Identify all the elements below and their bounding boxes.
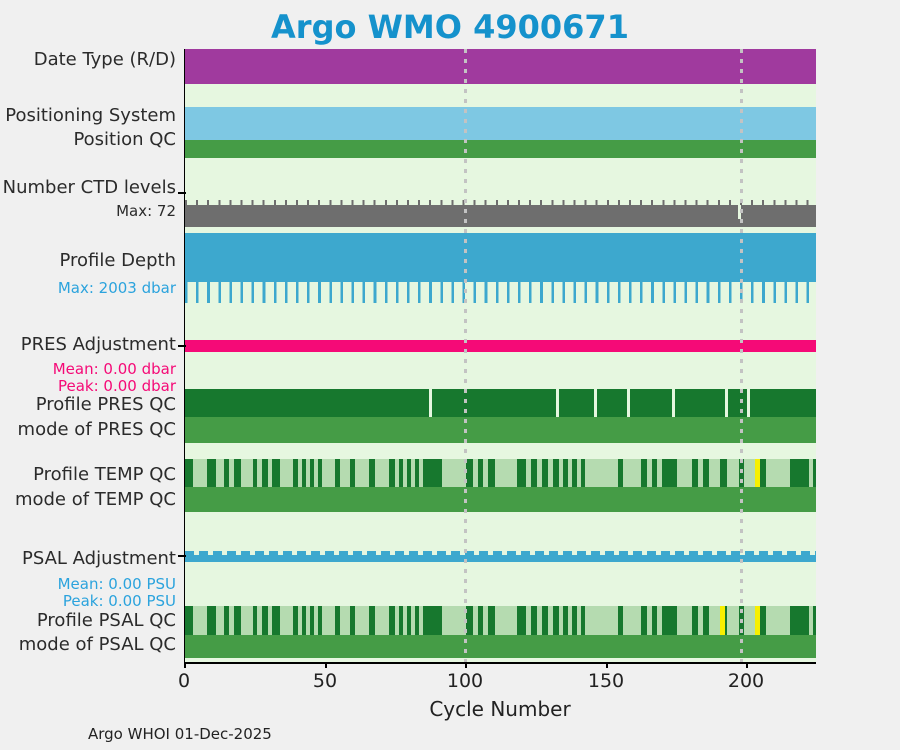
x-tick [746,662,748,668]
temp-qc-seg-b [395,459,399,487]
band-fill-mode-pres-qc [185,417,816,443]
temp-qc-seg-b [585,459,618,487]
psal-qc-seg-b [314,606,318,635]
row-label-mode-pres-qc: mode of PRES QC [18,419,176,440]
x-axis-label: Cycle Number [184,697,816,721]
band-fill-profile-pres-qc [185,389,816,417]
temp-qc-seg-b [809,459,813,487]
psal-adjustment-dash [185,551,816,555]
gridline-cycle-100 [464,49,467,662]
psal-qc-seg-b [698,606,703,635]
y-tick-ctd [178,192,186,194]
temp-qc-seg-b [548,459,553,487]
temp-qc-seg-b [537,459,542,487]
psal-qc-seg-b [548,606,553,635]
psal-qc-seg-b [809,606,813,635]
temp-qc-seg-b [526,459,531,487]
chart-plot-area [184,49,816,662]
pres-qc-gap [429,389,432,417]
psal-qc-seg-b [526,606,531,635]
psal-qc-seg-b [657,606,662,635]
row-label-profile-depth: Profile Depth [59,250,176,271]
x-tick [184,662,186,668]
band-fill-ctd-levels [185,205,816,227]
temp-qc-seg-b [340,459,350,487]
psal-qc-seg-b [647,606,652,635]
psal-qc-seg-b [216,606,224,635]
band-profile-depth [185,233,816,303]
psal-qc-seg-b [623,606,641,635]
row-label-psal-adjustment: PSAL Adjustment [22,548,176,569]
band-fill-profile-depth [185,233,816,282]
x-tick-label-0: 0 [178,670,190,692]
psal-qc-seg-b [677,606,692,635]
pres-qc-gap [672,389,675,417]
band-profile-temp-qc [185,459,816,487]
temp-qc-seg-b [419,459,423,487]
temp-qc-seg-b [657,459,662,487]
gridline-cycle-198 [740,49,743,662]
psal-qc-seg-b [442,606,466,635]
band-position-qc [185,140,816,158]
page-title: Argo WMO 4900671 [0,8,900,46]
temp-qc-seg-b [411,459,415,487]
temp-qc-seg-b [568,459,572,487]
psal-qc-seg-b [766,606,790,635]
psal-adjustment-line [185,555,816,562]
psal-qc-seg-b [483,606,488,635]
y-tick-pres-adj [178,345,186,347]
row-label-profile-temp-qc: Profile TEMP QC [33,464,176,485]
temp-qc-seg-b [442,459,466,487]
temp-qc-seg-b [744,459,755,487]
psal-qc-seg-b [709,606,720,635]
band-pres-adjustment [185,340,816,352]
x-tick-label-150: 150 [588,670,624,692]
row-label-positioning-system: Positioning System [5,105,176,126]
band-profile-psal-qc [185,606,816,635]
pres-qc-gap [627,389,630,417]
band-fill-mode-psal-qc [185,635,816,658]
psal-qc-seg-b [355,606,369,635]
row-label-ctd-levels: Number CTD levels [3,177,176,198]
row-label-position-qc: Position QC [73,129,176,150]
temp-qc-seg-b [495,459,517,487]
temp-qc-seg-b [577,459,581,487]
row-label-date-type: Date Type (R/D) [34,49,176,70]
temp-qc-seg-b [647,459,652,487]
band-fill-position-qc [185,140,816,158]
row-label-profile-psal-qc: Profile PSAL QC [37,610,176,631]
temp-qc-seg-b [193,459,207,487]
temp-qc-seg-b [677,459,692,487]
row-sublabel-psal-peak: Peak: 0.00 PSU [63,591,176,612]
row-sublabel-depth-max: Max: 2003 dbar [58,278,176,299]
psal-qc-seg-b [306,606,310,635]
x-tick [606,662,608,668]
row-label-pres-adjustment: PRES Adjustment [21,334,176,355]
band-date-type [185,49,816,84]
x-tick [325,662,327,668]
row-label-mode-psal-qc: mode of PSAL QC [19,634,176,655]
temp-qc-seg-b [280,459,293,487]
temp-qc-seg-b [355,459,369,487]
row-label-profile-pres-qc: Profile PRES QC [36,394,176,415]
temp-qc-seg-b [559,459,563,487]
band-profile-pres-qc [185,389,816,417]
psal-qc-seg-b [280,606,293,635]
pres-qc-gap [556,389,559,417]
band-comb-profile-depth [185,282,816,303]
band-ctd-levels [185,200,816,227]
psal-qc-seg-b [585,606,618,635]
psal-qc-seg-b [419,606,423,635]
psal-qc-seg-b [340,606,350,635]
temp-qc-seg-b [257,459,262,487]
psal-qc-seg-b [395,606,399,635]
band-comb-ctd-levels [185,200,816,206]
pres-qc-gap [725,389,728,417]
footer-credit: Argo WHOI 01-Dec-2025 [88,725,272,743]
band-fill-date-type [185,49,816,84]
psal-qc-seg-b [577,606,581,635]
temp-qc-seg-b [709,459,720,487]
temp-qc-seg-b [229,459,234,487]
band-mode-psal-qc [185,635,816,658]
band-mode-temp-qc [185,487,816,512]
row-sublabel-ctd-max: Max: 72 [116,201,176,222]
temp-qc-seg-b [766,459,790,487]
band-fill-mode-temp-qc [185,487,816,512]
psal-qc-seg-b [744,606,755,635]
temp-qc-seg-yellow [755,459,760,487]
temp-qc-seg-b [473,459,478,487]
psal-qc-seg-b [193,606,207,635]
band-positioning-system [185,107,816,140]
psal-qc-seg-b [268,606,272,635]
pres-adjustment-line [185,340,816,352]
x-tick [465,662,467,668]
pres-qc-gap [747,389,750,417]
psal-qc-seg-b [727,606,739,635]
temp-qc-seg-b [298,459,302,487]
band-mode-pres-qc [185,417,816,443]
x-tick-label-200: 200 [728,670,764,692]
band-fill-positioning-system [185,107,816,140]
psal-qc-seg-b [322,606,335,635]
temp-qc-seg-b [241,459,253,487]
temp-qc-seg-b [216,459,224,487]
temp-qc-seg-b [727,459,739,487]
psal-qc-seg-b [473,606,478,635]
temp-qc-seg-b [375,459,389,487]
temp-qc-seg-b [698,459,703,487]
x-axis: 0 50 100 150 200 [184,662,816,664]
psal-qc-seg-b [257,606,262,635]
temp-qc-seg-b [623,459,641,487]
psal-qc-seg-b [537,606,542,635]
temp-qc-seg-b [322,459,335,487]
psal-qc-seg-b [241,606,253,635]
psal-qc-seg-b [403,606,407,635]
x-tick-label-100: 100 [447,670,483,692]
temp-qc-seg-b [403,459,407,487]
psal-qc-seg-b [411,606,415,635]
row-label-mode-temp-qc: mode of TEMP QC [15,489,176,510]
temp-qc-seg-b [268,459,272,487]
psal-qc-seg-yellow [755,606,760,635]
psal-qc-seg-b [229,606,234,635]
x-tick-label-50: 50 [313,670,337,692]
psal-qc-seg-yellow [720,606,725,635]
psal-qc-seg-b [298,606,302,635]
temp-qc-seg-b [314,459,318,487]
psal-qc-seg-b [559,606,563,635]
pres-qc-gap [594,389,597,417]
band-psal-adjustment [185,551,816,562]
temp-qc-seg-b [483,459,488,487]
y-tick-psal-adj [178,555,186,557]
psal-qc-seg-b [375,606,389,635]
psal-qc-seg-b [495,606,517,635]
temp-qc-seg-b [306,459,310,487]
psal-qc-seg-b [568,606,572,635]
